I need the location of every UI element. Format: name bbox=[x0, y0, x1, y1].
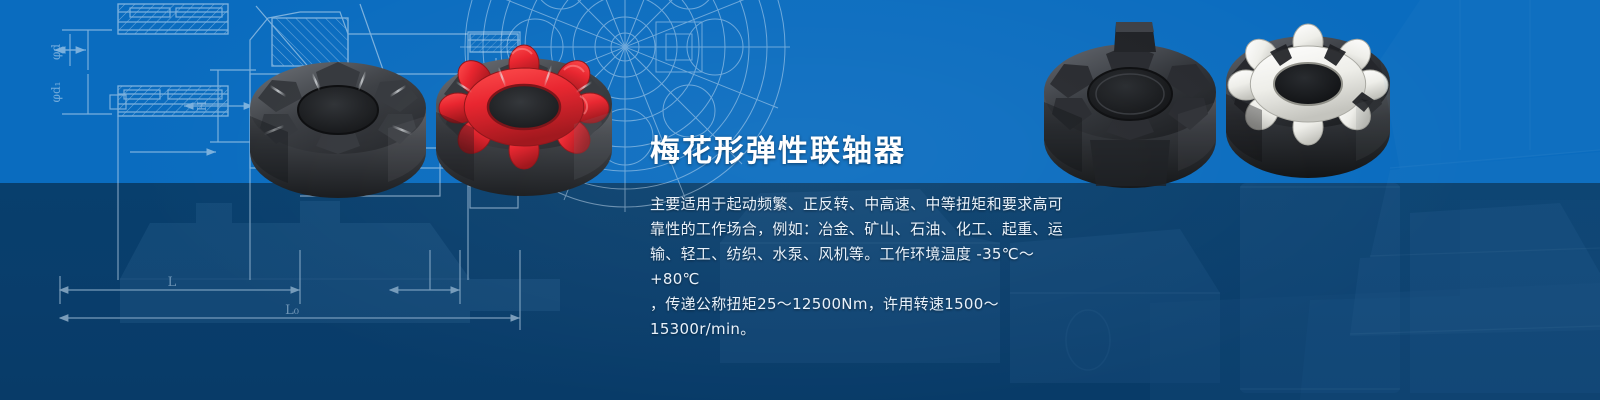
coupling-red-spider bbox=[436, 45, 612, 196]
description-line-1: 主要适用于起动频繁、正反转、中高速、中等扭矩和要求高可 bbox=[650, 192, 1070, 217]
product-jaw-coupling-right-pair bbox=[1030, 10, 1390, 205]
product-banner: L L₀ φd φd₁ H D bbox=[0, 0, 1600, 400]
description-line-3: 输、轻工、纺织、水泵、风机等。工作环境温度 -35℃～+80℃ bbox=[650, 242, 1070, 292]
coupling-white-spider bbox=[1226, 24, 1390, 178]
blueprint-label-length-short: L bbox=[168, 275, 177, 290]
description-line-4: ，传递公称扭矩25～12500Nm，许用转速1500～15300r/min。 bbox=[650, 292, 1070, 342]
page-title: 梅花形弹性联轴器 bbox=[650, 137, 906, 167]
description-line-2: 靠性的工作场合，例如：冶金、矿山、石油、化工、起重、运 bbox=[650, 217, 1070, 242]
product-jaw-coupling-left-pair bbox=[228, 16, 628, 216]
product-description: 主要适用于起动频繁、正反转、中高速、中等扭矩和要求高可 靠性的工作场合，例如：冶… bbox=[650, 192, 1070, 342]
blueprint-label-height: H bbox=[195, 101, 209, 111]
coupling-hub-black-right bbox=[1044, 22, 1216, 188]
blueprint-label-bore-small: φd bbox=[49, 44, 63, 60]
blueprint-label-bore-large: φd₁ bbox=[49, 82, 63, 103]
coupling-hub-black bbox=[250, 62, 426, 198]
blueprint-label-length-total: L₀ bbox=[285, 303, 299, 318]
